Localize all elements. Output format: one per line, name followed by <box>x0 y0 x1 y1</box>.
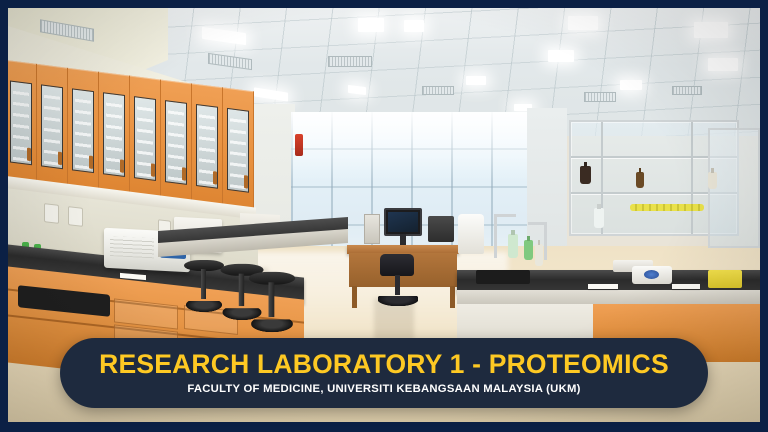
sample-tray <box>630 204 704 211</box>
wall-cabinet <box>192 83 223 209</box>
cabinet-handle <box>213 171 217 185</box>
wall-socket <box>68 206 83 227</box>
office-chair <box>378 254 418 306</box>
reagent-bottle <box>524 240 533 260</box>
magnetic-stirrer <box>632 266 672 284</box>
cabinet-handle <box>89 155 93 169</box>
desk-leg <box>450 286 455 308</box>
ceiling-light <box>708 58 738 71</box>
right-bench-sink <box>476 270 530 284</box>
ceiling-vent <box>672 86 702 95</box>
ceiling-vent <box>584 92 616 102</box>
ceiling-light <box>548 50 574 62</box>
faucet <box>494 214 497 258</box>
ceiling-light <box>358 18 384 32</box>
chair-post <box>395 275 400 295</box>
wall-cabinet <box>68 68 99 194</box>
instrument-vents <box>110 236 154 258</box>
ceiling-light <box>404 20 424 32</box>
cabinet-handle <box>58 151 62 165</box>
bench-papers <box>588 284 618 289</box>
page-title: RESEARCH LABORATORY 1 - PROTEOMICS <box>99 351 669 378</box>
chair-backrest <box>380 254 414 276</box>
wall-cabinet <box>223 87 254 213</box>
image-frame: RESEARCH LABORATORY 1 - PROTEOMICS FACUL… <box>0 0 768 432</box>
fire-extinguisher <box>295 134 303 156</box>
cabinet-handle <box>151 163 155 177</box>
stool-base <box>251 319 293 332</box>
wall-cabinet <box>8 60 37 186</box>
chair-base <box>378 296 418 306</box>
stool-post <box>201 269 206 299</box>
ceiling-light <box>466 76 486 85</box>
computer-tower <box>364 214 380 244</box>
stool-base <box>186 301 222 312</box>
page-subtitle: FACULTY OF MEDICINE, UNIVERSITI KEBANGSA… <box>187 384 580 395</box>
computer-tower <box>428 216 454 242</box>
wall-cabinet <box>99 72 130 198</box>
lab-stool <box>249 272 295 332</box>
shelf-mullion <box>691 122 693 234</box>
reagent-bottle <box>580 166 591 184</box>
wall-cabinet <box>37 64 68 190</box>
cabinet-handle <box>244 175 248 189</box>
reagent-bottle <box>636 172 644 188</box>
wall-socket <box>44 203 59 224</box>
stirrer-dial <box>644 270 659 279</box>
reagent-bottle <box>708 172 717 189</box>
stool-post <box>239 274 244 306</box>
desk-leg <box>352 286 357 308</box>
desktop-monitor <box>384 208 422 236</box>
faucet <box>528 222 546 225</box>
window-glare <box>291 112 533 182</box>
sharps-container <box>708 270 742 288</box>
faucet <box>544 222 547 260</box>
cabinet-handle <box>182 167 186 181</box>
wall-cabinet <box>130 76 161 202</box>
ceiling-light <box>568 16 598 30</box>
title-banner: RESEARCH LABORATORY 1 - PROTEOMICS FACUL… <box>60 338 708 408</box>
water-purifier-unit <box>458 214 484 254</box>
ceiling-light <box>620 80 642 90</box>
cabinet-handle <box>120 159 124 173</box>
right-wall-column <box>527 108 567 268</box>
stool-post <box>269 282 275 317</box>
monitor-screen <box>388 212 418 232</box>
ceiling-vent <box>328 56 372 67</box>
cabinet-handle <box>27 147 31 161</box>
ceiling-light <box>694 22 728 38</box>
reagent-bottle <box>535 244 543 266</box>
reagent-bottle <box>508 234 518 258</box>
bench-papers <box>672 284 700 289</box>
faucet <box>494 214 516 217</box>
ceiling-vent <box>422 86 454 95</box>
lab-stool <box>184 260 224 312</box>
reagent-bottle <box>594 208 604 228</box>
wall-cabinet <box>161 80 192 206</box>
